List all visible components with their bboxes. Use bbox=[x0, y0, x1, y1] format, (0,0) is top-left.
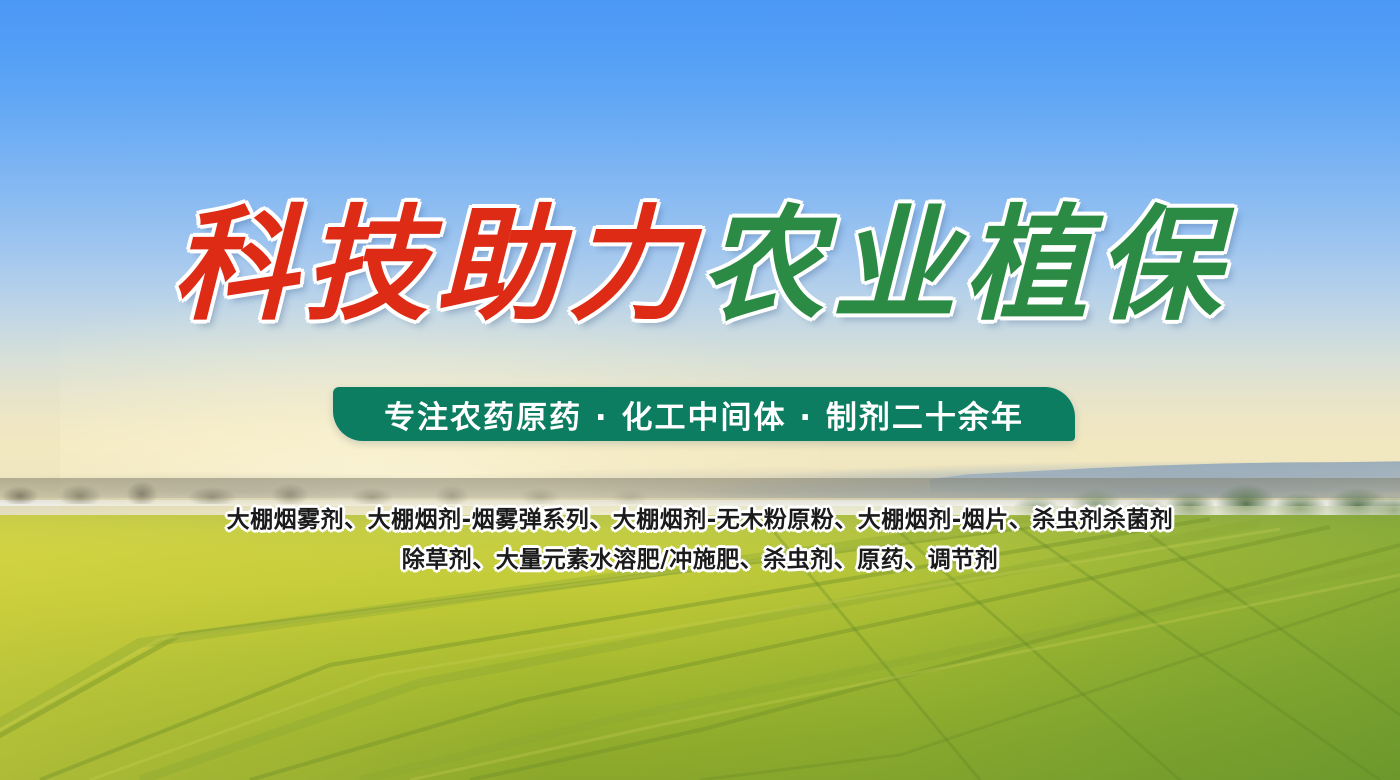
headline: 科技助力农业植保 bbox=[0, 204, 1400, 328]
product-line-1: 大棚烟雾剂、大棚烟剂-烟雾弹系列、大棚烟剂-无木粉原粉、大棚烟剂-烟片、杀虫剂杀… bbox=[0, 500, 1400, 540]
headline-red-text: 科技助力 bbox=[172, 193, 700, 338]
product-line-2: 除草剂、大量元素水溶肥/冲施肥、杀虫剂、原药、调节剂 bbox=[0, 540, 1400, 580]
subtitle-text: 专注农药原药 · 化工中间体 · 制剂二十余年 bbox=[384, 392, 1024, 437]
headline-green-text: 农业植保 bbox=[700, 193, 1228, 338]
product-list: 大棚烟雾剂、大棚烟剂-烟雾弹系列、大棚烟剂-无木粉原粉、大棚烟剂-烟片、杀虫剂杀… bbox=[0, 500, 1400, 580]
hero-banner: 科技助力农业植保 专注农药原药 · 化工中间体 · 制剂二十余年 大棚烟雾剂、大… bbox=[0, 0, 1400, 780]
subtitle-badge: 专注农药原药 · 化工中间体 · 制剂二十余年 bbox=[333, 387, 1075, 441]
